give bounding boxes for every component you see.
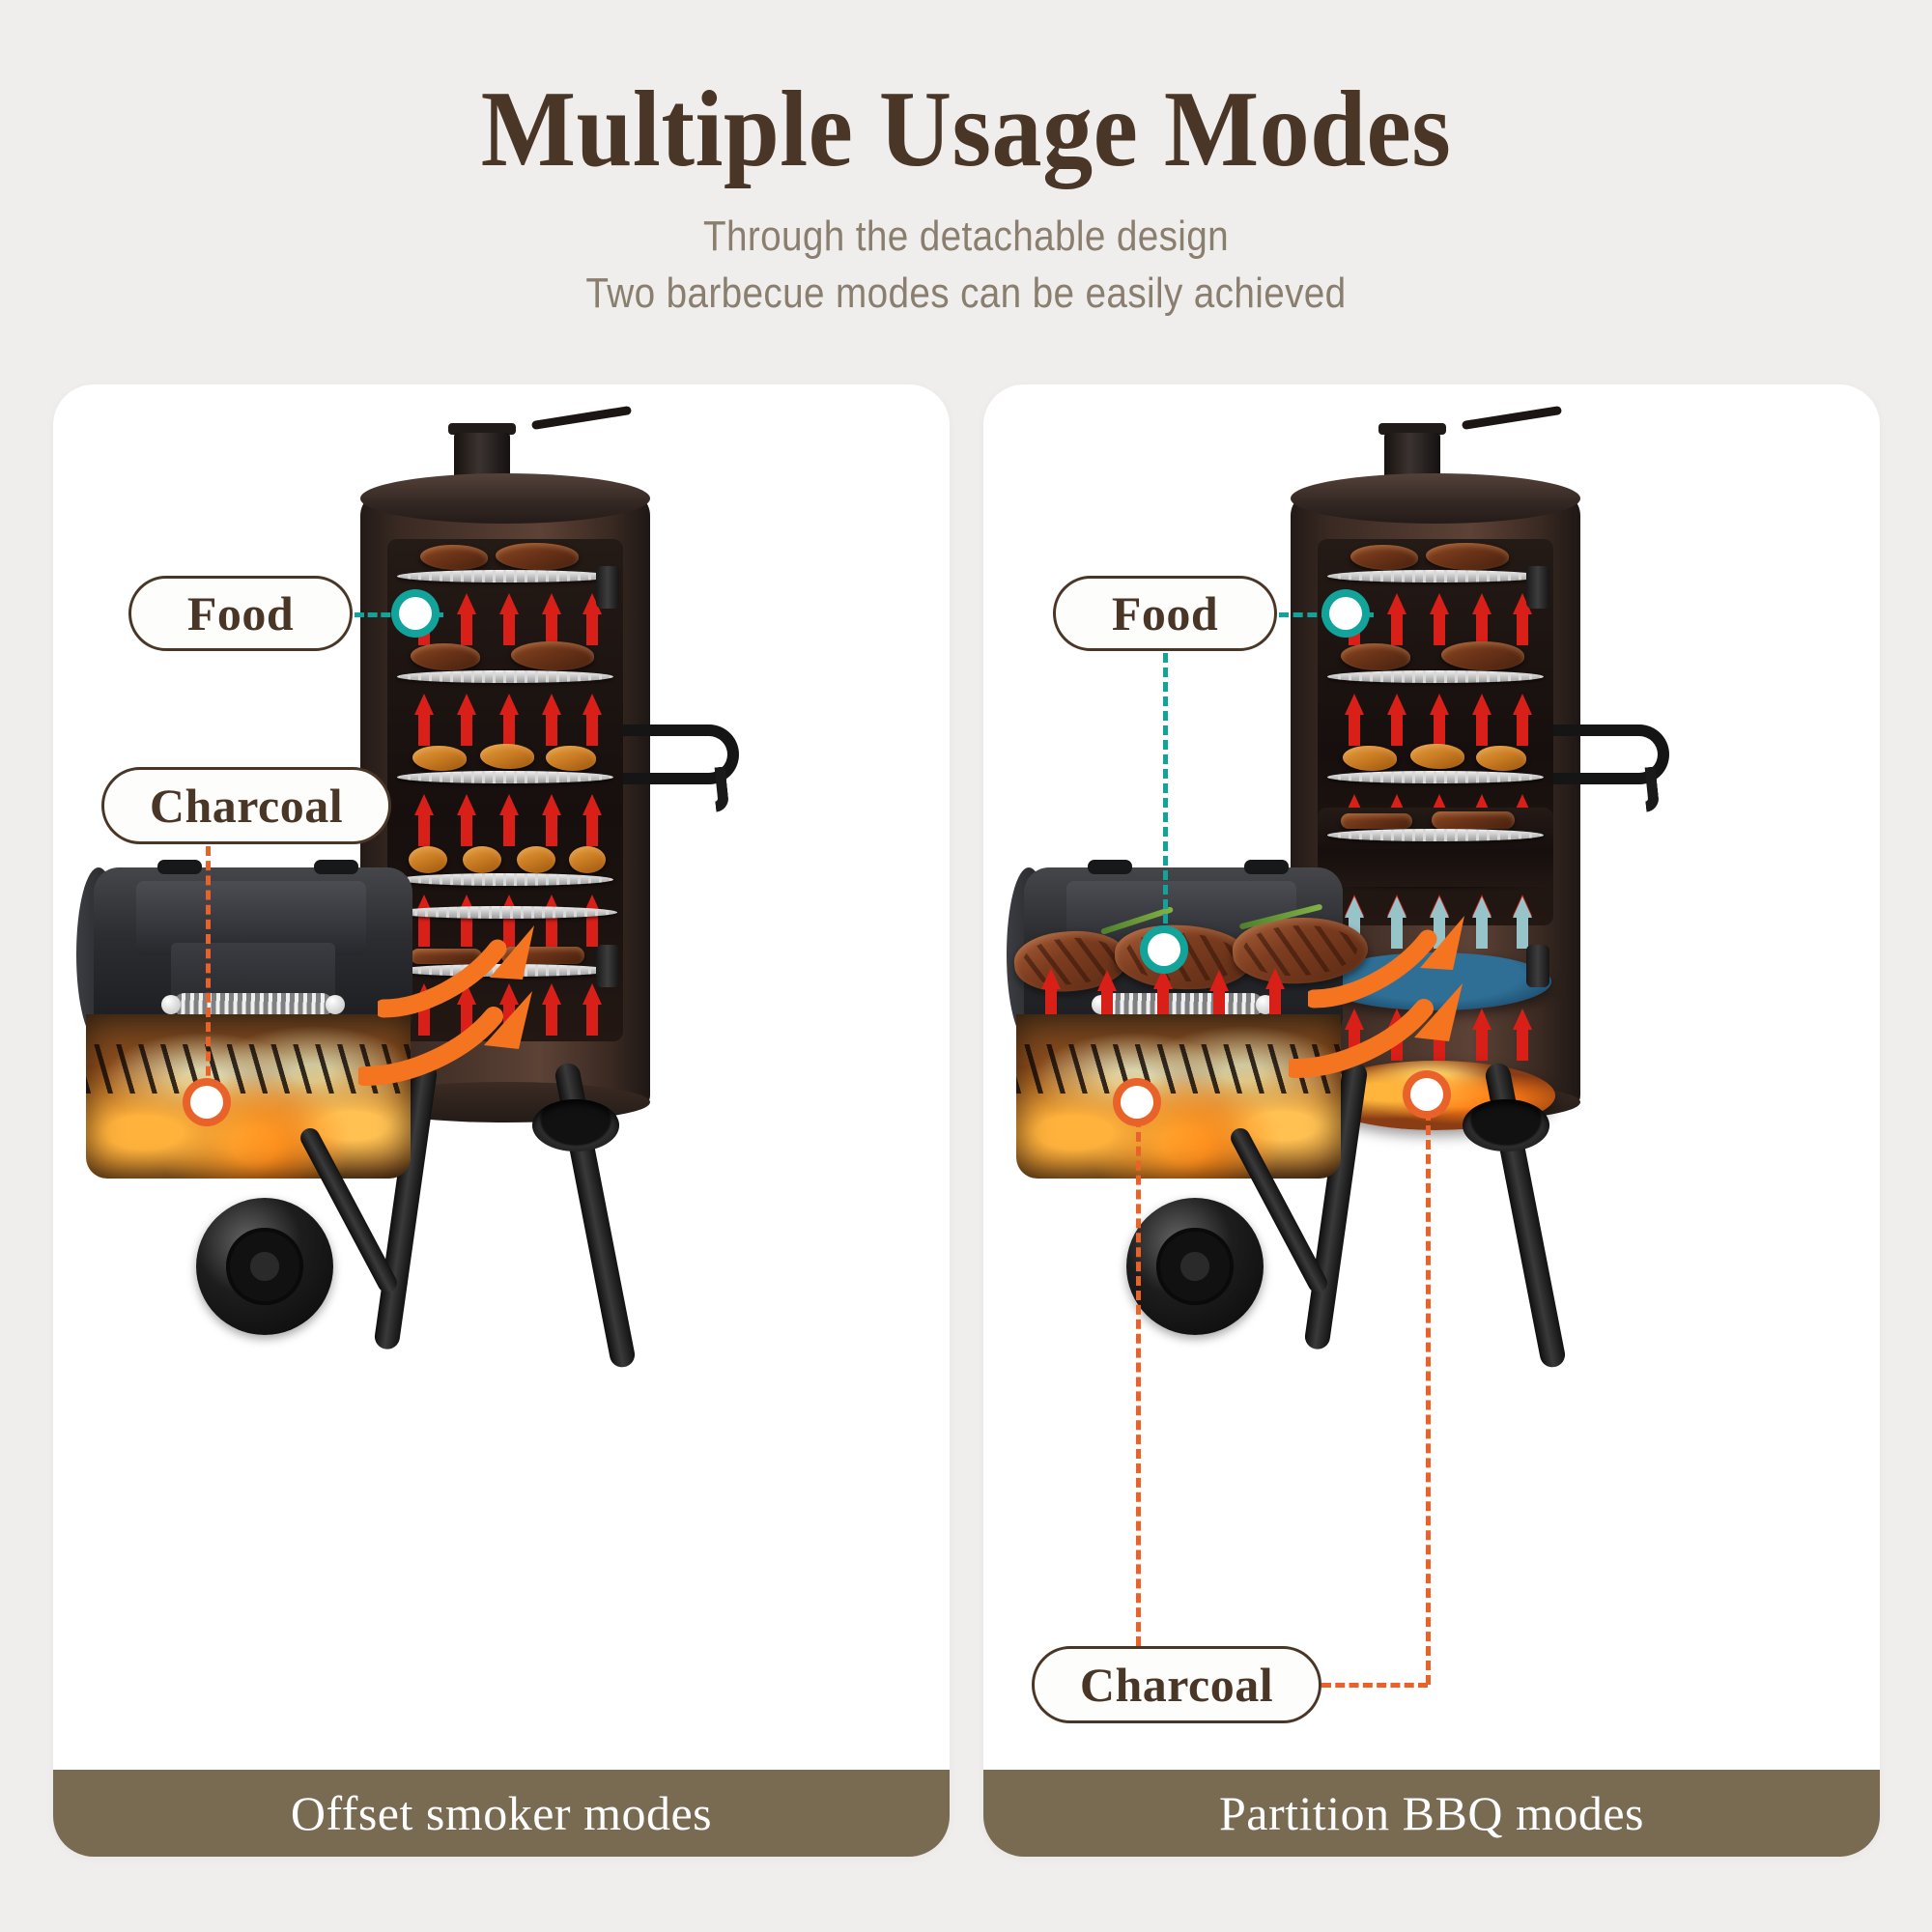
heat-arrow-icon <box>1472 1009 1492 1061</box>
panel-partition-bbq-artwork: Food Charcoal <box>983 384 1880 1770</box>
coil-end-knob <box>161 995 181 1014</box>
subtitle-line-1: Through the detachable design <box>116 209 1816 266</box>
coil-end-knob <box>326 995 345 1014</box>
heat-arrow-icon <box>542 983 561 1036</box>
barrel-lid <box>360 473 650 524</box>
heat-arrow-icon <box>1387 593 1406 645</box>
callout-charcoal-leader-line-horizontal <box>1321 1683 1428 1688</box>
callout-charcoal[interactable]: Charcoal <box>1032 1646 1321 1723</box>
callout-food-marker-icon <box>1329 597 1362 630</box>
food-item <box>1476 746 1526 771</box>
steam-arrow-icon <box>1513 896 1532 949</box>
callout-food[interactable]: Food <box>1053 576 1277 651</box>
heat-arrow-icon <box>414 694 434 746</box>
wheel <box>1126 1198 1264 1335</box>
infographic-root: Multiple Usage Modes Through the detacha… <box>0 0 1932 1932</box>
callout-charcoal-label: Charcoal <box>1080 1657 1273 1713</box>
callout-charcoal-leader-line-right <box>1426 1111 1431 1685</box>
food-item <box>463 846 501 873</box>
page-title: Multiple Usage Modes <box>68 75 1864 184</box>
food-item <box>1432 811 1515 829</box>
heat-arrow-icon <box>1513 1009 1532 1061</box>
food-item <box>496 543 579 570</box>
heat-arrow-icon <box>582 895 602 947</box>
heat-arrow-icon <box>457 593 476 645</box>
heat-arrow-icon <box>1345 694 1364 746</box>
cup-holder <box>1463 1099 1549 1151</box>
heat-arrow-icon <box>499 694 519 746</box>
heat-arrow-icon <box>542 794 561 846</box>
heat-arrow-icon <box>1430 694 1449 746</box>
firebox-hinge <box>1088 860 1132 874</box>
food-item <box>1341 813 1412 829</box>
callout-food-label: Food <box>1112 585 1218 641</box>
heat-arrow-icon <box>1153 968 1173 1020</box>
door-latch <box>596 566 619 609</box>
food-item <box>569 846 606 873</box>
panel-partition-bbq-caption: Partition BBQ modes <box>983 1770 1880 1857</box>
panel-offset-smoker: Food Charcoal Offset smoker modes <box>53 384 950 1857</box>
food-item <box>1343 746 1397 771</box>
door-latch <box>1526 945 1549 987</box>
page-subtitle: Through the detachable design Two barbec… <box>116 209 1816 322</box>
food-item <box>511 641 594 670</box>
heat-arrow-icon <box>1472 593 1492 645</box>
heat-arrow-icon <box>1265 968 1285 1020</box>
food-item <box>411 643 480 670</box>
food-item <box>1410 744 1464 769</box>
cooking-rack <box>397 873 613 886</box>
firebox-hinge <box>314 860 358 874</box>
cup-holder <box>532 1099 619 1151</box>
callout-food-marker-icon <box>1148 933 1180 966</box>
cooking-rack <box>397 570 613 582</box>
callout-food-marker-icon <box>399 597 432 630</box>
transfer-arrow-icon <box>1289 976 1472 1082</box>
heat-arrow-icon <box>1472 694 1492 746</box>
callout-charcoal-marker-icon <box>1410 1078 1443 1111</box>
callout-charcoal[interactable]: Charcoal <box>101 767 391 844</box>
food-item <box>1341 643 1410 670</box>
firebox-hinge <box>157 860 202 874</box>
food-item <box>480 744 534 769</box>
food-item <box>412 746 467 771</box>
cooking-rack <box>1327 771 1544 783</box>
panel-offset-smoker-caption: Offset smoker modes <box>53 1770 950 1857</box>
food-item <box>1441 641 1524 670</box>
cooking-rack <box>397 670 613 683</box>
cooking-rack <box>1327 570 1544 582</box>
food-item <box>546 746 596 771</box>
heat-arrow-icon <box>457 794 476 846</box>
callout-charcoal-marker-icon <box>1121 1086 1153 1119</box>
food-item <box>517 846 555 873</box>
sausage-rack-level <box>1318 808 1553 887</box>
callout-food-label: Food <box>187 585 294 641</box>
wheel <box>196 1198 333 1335</box>
panel-partition-bbq: Food Charcoal Partition BBQ modes <box>983 384 1880 1857</box>
callout-food[interactable]: Food <box>128 576 353 651</box>
heat-arrow-icon <box>1387 694 1406 746</box>
heat-arrow-icon <box>542 895 561 947</box>
header: Multiple Usage Modes Through the detacha… <box>0 0 1932 322</box>
callout-charcoal-leader-line-left <box>1136 1103 1141 1646</box>
food-item <box>409 846 447 873</box>
callout-charcoal-label: Charcoal <box>150 778 343 834</box>
food-item <box>1426 543 1509 570</box>
heat-arrow-icon <box>457 694 476 746</box>
cooking-rack <box>1327 829 1544 841</box>
heat-arrow-icon <box>542 694 561 746</box>
cool-touch-coil-handle <box>1103 993 1264 1016</box>
heat-arrow-icon <box>542 593 561 645</box>
caption-label: Partition BBQ modes <box>1219 1785 1644 1841</box>
chimney-handle <box>531 406 632 430</box>
subtitle-line-2: Two barbecue modes can be easily achieve… <box>116 266 1816 323</box>
cool-touch-coil-handle <box>173 993 333 1016</box>
steam-arrow-icon <box>1472 896 1492 949</box>
food-item <box>1350 545 1418 570</box>
panel-offset-smoker-artwork: Food Charcoal <box>53 384 950 1770</box>
firebox-hinge <box>1244 860 1289 874</box>
heat-arrow-icon <box>1513 694 1532 746</box>
caption-label: Offset smoker modes <box>291 1785 712 1841</box>
cooking-rack <box>397 771 613 783</box>
callout-food-leader-line-vertical <box>1163 653 1168 952</box>
barrel-lid <box>1291 473 1580 524</box>
transfer-arrow-icon <box>358 983 542 1090</box>
door-latch <box>596 945 619 987</box>
callout-charcoal-marker-icon <box>190 1086 223 1119</box>
cooking-rack <box>1327 670 1544 683</box>
heat-arrow-icon <box>414 794 434 846</box>
heat-arrow-icon <box>582 983 602 1036</box>
heat-arrow-icon <box>582 694 602 746</box>
callout-charcoal-leader-line <box>206 846 211 1105</box>
chimney-handle <box>1462 406 1562 430</box>
door-latch <box>1526 566 1549 609</box>
heat-arrow-icon <box>1430 593 1449 645</box>
heat-arrow-icon <box>499 794 519 846</box>
heat-arrow-icon <box>582 794 602 846</box>
heat-arrow-icon <box>1041 968 1061 1020</box>
food-item <box>420 545 488 570</box>
heat-arrow-icon <box>499 593 519 645</box>
